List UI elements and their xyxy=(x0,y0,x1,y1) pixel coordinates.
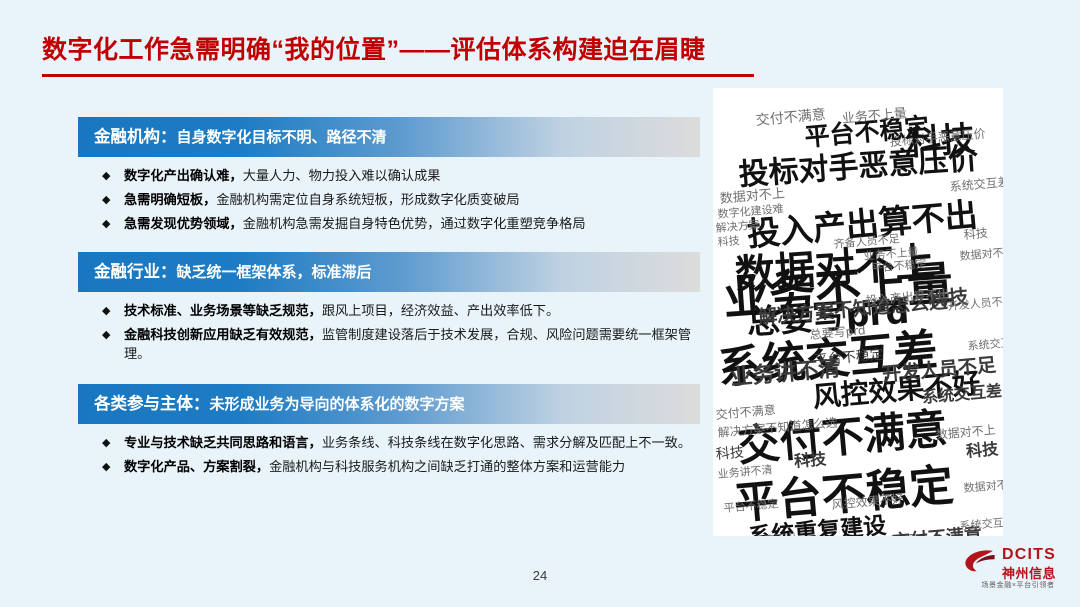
section-1-lead: 金融机构： xyxy=(94,128,177,146)
page-title: 数字化工作急需明确“我的位置”——评估体系构建迫在眉睫 xyxy=(42,34,1042,66)
list-item: ◆ 金融科技创新应用缺乏有效规范，监管制度建设落后于技术发展，合规、风险问题需要… xyxy=(78,325,700,363)
section-header-2: 金融行业：缺乏统一框架体系，标准滞后 xyxy=(78,252,700,292)
logo-brand-text: DCITS xyxy=(1002,546,1056,564)
word-cloud-term: 科技 xyxy=(963,224,988,243)
page-number: 24 xyxy=(0,568,1080,583)
word-cloud-term: 科技 xyxy=(965,435,999,462)
diamond-bullet-icon: ◆ xyxy=(102,458,110,477)
section-header-3: 各类参与主体：未形成业务为导向的体系化的数字方案 xyxy=(78,384,700,424)
bullet-text: 金融机构急需发掘自身特色优势，通过数字化重塑竞争格局 xyxy=(243,216,586,231)
diamond-bullet-icon: ◆ xyxy=(102,167,110,186)
section-2-bullets: ◆ 技术标准、业务场景等缺乏规范，跟风上项目，经济效益、产出效率低下。 ◆ 金融… xyxy=(78,292,700,363)
bullet-lead: 金融科技创新应用缺乏有效规范， xyxy=(124,327,322,342)
spacer xyxy=(78,238,700,252)
word-cloud-term: 科技 xyxy=(717,232,740,250)
bullet-text: 大量人力、物力投入难以确认成果 xyxy=(243,168,441,183)
bullet-text: 金融机构与科技服务机构之间缺乏打通的整体方案和运营能力 xyxy=(269,459,625,474)
logo-tagline: 场景金融×平台引领者 xyxy=(963,580,1073,590)
diamond-bullet-icon: ◆ xyxy=(102,215,110,234)
section-1-rest: 自身数字化目标不明、路径不清 xyxy=(177,129,387,146)
list-item: ◆ 数字化产品、方案割裂，金融机构与科技服务机构之间缺乏打通的整体方案和运营能力 xyxy=(78,457,700,476)
word-cloud-image: 业务不上量系统交互差平台不稳定交付不满意数据对不上投入产出算不出投标对手恶意压价… xyxy=(713,88,1003,536)
list-item: ◆ 数字化产出确认难，大量人力、物力投入难以确认成果 xyxy=(78,166,700,185)
section-3-rest: 未形成业务为导向的体系化的数字方案 xyxy=(210,396,465,413)
word-cloud-term: 科技 xyxy=(793,445,827,472)
list-item: ◆ 专业与技术缺乏共同思路和语言，业务条线、科技条线在数字化思路、需求分解及匹配… xyxy=(78,433,700,452)
content-column: 金融机构：自身数字化目标不明、路径不清 ◆ 数字化产出确认难，大量人力、物力投入… xyxy=(78,117,700,481)
bullet-text: 金融机构需定位自身系统短板，形成数字化质变破局 xyxy=(216,192,519,207)
section-header-1: 金融机构：自身数字化目标不明、路径不清 xyxy=(78,117,700,157)
bullet-lead: 专业与技术缺乏共同思路和语言， xyxy=(124,435,322,450)
list-item: ◆ 急需明确短板，金融机构需定位自身系统短板，形成数字化质变破局 xyxy=(78,190,700,209)
word-cloud-term: 数据对不上 xyxy=(963,475,1003,496)
section-2-rest: 缺乏统一框架体系，标准滞后 xyxy=(177,264,372,281)
title-block: 数字化工作急需明确“我的位置”——评估体系构建迫在眉睫 xyxy=(42,34,1042,66)
section-3-bullets: ◆ 专业与技术缺乏共同思路和语言，业务条线、科技条线在数字化思路、需求分解及匹配… xyxy=(78,424,700,476)
diamond-bullet-icon: ◆ xyxy=(102,191,110,210)
word-cloud-term: 系统交互差 xyxy=(959,513,1003,534)
list-item: ◆ 技术标准、业务场景等缺乏规范，跟风上项目，经济效益、产出效率低下。 xyxy=(78,301,700,320)
title-underline xyxy=(42,74,754,77)
section-1-bullets: ◆ 数字化产出确认难，大量人力、物力投入难以确认成果 ◆ 急需明确短板，金融机构… xyxy=(78,157,700,233)
list-item: ◆ 急需发现优势领域，金融机构急需发掘自身特色优势，通过数字化重塑竞争格局 xyxy=(78,214,700,233)
bullet-text: 业务条线、科技条线在数字化思路、需求分解及匹配上不一致。 xyxy=(322,435,691,450)
dcits-swoosh-icon xyxy=(964,548,998,574)
diamond-bullet-icon: ◆ xyxy=(102,302,110,321)
bullet-lead: 急需明确短板， xyxy=(124,192,216,207)
slide-canvas: 数字化工作急需明确“我的位置”——评估体系构建迫在眉睫 金融机构：自身数字化目标… xyxy=(0,0,1080,607)
diamond-bullet-icon: ◆ xyxy=(102,434,110,453)
word-cloud-term: 科技 xyxy=(715,442,745,464)
bullet-lead: 数字化产出确认难， xyxy=(124,168,243,183)
bullet-lead: 数字化产品、方案割裂， xyxy=(124,459,269,474)
spacer xyxy=(78,368,700,384)
diamond-bullet-icon: ◆ xyxy=(102,326,110,345)
section-3-lead: 各类参与主体： xyxy=(94,395,210,413)
bullet-lead: 技术标准、业务场景等缺乏规范， xyxy=(124,303,322,318)
bullet-lead: 急需发现优势领域， xyxy=(124,216,243,231)
company-logo: DCITS 神州信息 场景金融×平台引领者 xyxy=(962,544,1074,600)
section-2-lead: 金融行业： xyxy=(94,263,177,281)
word-cloud-term: 系统交互差 xyxy=(967,333,1003,354)
bullet-text: 跟风上项目，经济效益、产出效率低下。 xyxy=(322,303,559,318)
word-cloud-term: 数据对不上 xyxy=(959,243,1003,264)
